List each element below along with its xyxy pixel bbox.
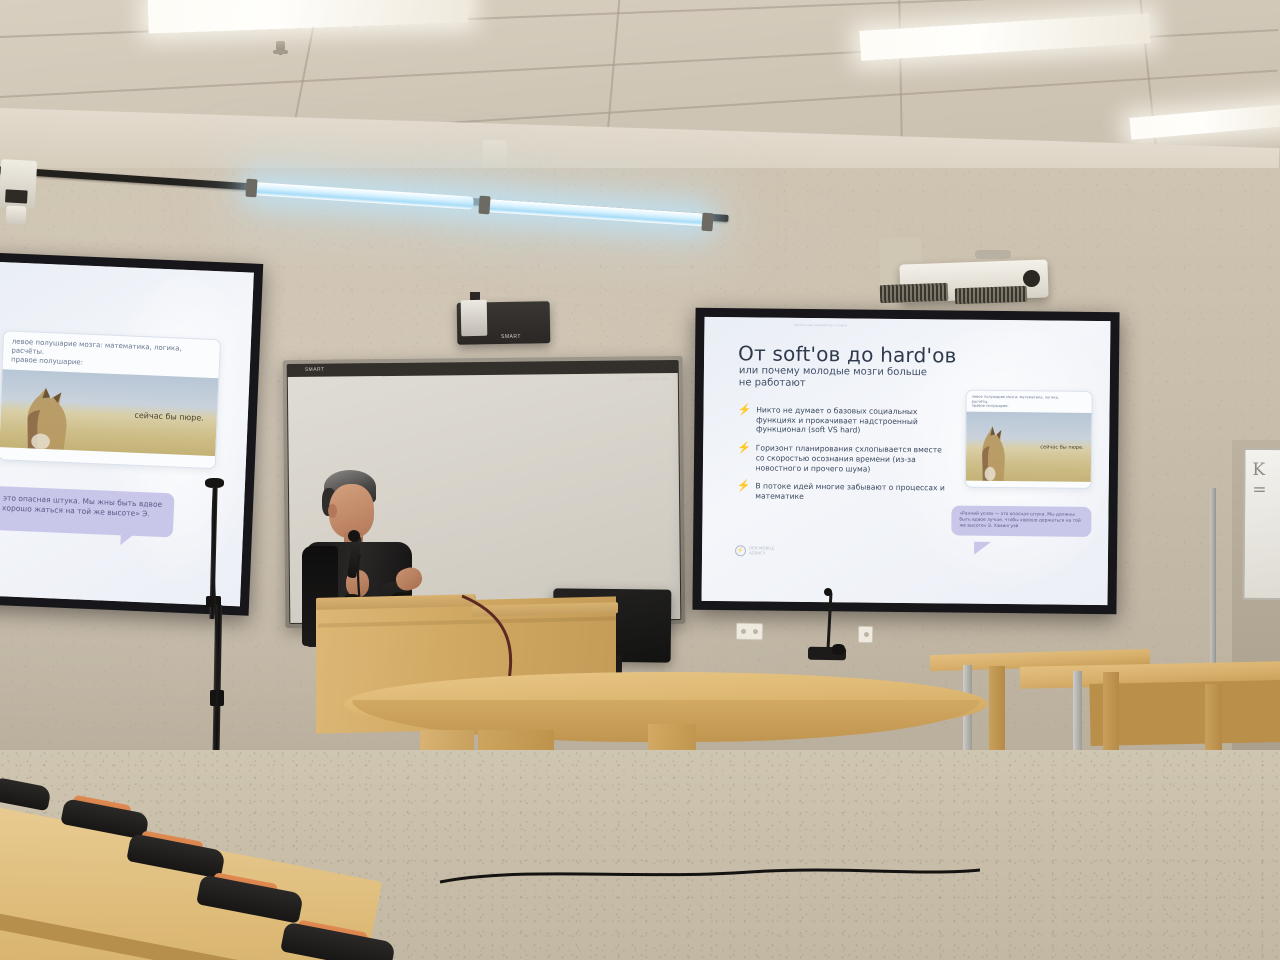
right-quote-tail xyxy=(974,542,991,555)
bullet-item: ⚡ Никто не думает о базовых социальных ф… xyxy=(737,405,947,436)
wall-bracket xyxy=(6,205,27,224)
slide-logo: ⚡ DEN MOBILE AGENCY xyxy=(735,545,774,556)
right-slide: Мобильная разработка сегодня От soft'ов … xyxy=(702,317,1111,605)
bolt-icon: ⚡ xyxy=(737,405,751,434)
right-quote-bubble: «Ранний успех — это опасная штука. Мы до… xyxy=(951,505,1091,536)
bullet-text: В потоке идей многие забывают о процесса… xyxy=(755,482,946,503)
left-quote-tail xyxy=(120,531,137,546)
slide-subtitle-line2: не работают xyxy=(739,377,927,391)
projector-knob-bar xyxy=(975,250,1011,259)
gooseneck-mute-button[interactable] xyxy=(832,644,845,655)
logo-line2: AGENCY xyxy=(749,551,774,556)
left-meme-photo: сейчас бы пюре. xyxy=(0,369,218,456)
sprinkler-head xyxy=(276,41,285,55)
right-quote-text: «Ранний успех — это опасная штука. Мы до… xyxy=(959,512,1080,529)
left-meme-card: левое полушарие мозга: математика, логик… xyxy=(0,330,221,469)
right-projection-screen: Мобильная разработка сегодня От soft'ов … xyxy=(692,308,1119,614)
dog-illustration xyxy=(12,382,92,451)
slide-title: От soft'ов до hard'ов xyxy=(738,341,957,367)
projector-brand-label: SMART xyxy=(501,334,521,340)
right-slide-surface: Мобильная разработка сегодня От soft'ов … xyxy=(702,317,1111,605)
wall-outlet-single[interactable] xyxy=(858,626,873,643)
whiteboard-brand-label: SMART xyxy=(305,367,325,373)
flipchart-written-text: K = xyxy=(1252,460,1280,500)
bullet-text: Горизонт планирования схлопывается вмест… xyxy=(756,444,948,475)
projector-mirror-head xyxy=(461,300,488,336)
tube-end-cap xyxy=(478,196,490,215)
bullet-text: Никто не думает о базовых социальных фун… xyxy=(756,405,948,436)
projector-vent xyxy=(955,286,1028,305)
bolt-icon: ⚡ xyxy=(737,482,751,502)
bolt-icon: ⚡ xyxy=(737,443,751,472)
wall-outlet-double[interactable] xyxy=(736,623,763,640)
left-meme-photo-text: сейчас бы пюре. xyxy=(134,411,204,423)
presenter-ear xyxy=(328,504,337,518)
bullet-item: ⚡ Горизонт планирования схлопывается вме… xyxy=(737,443,947,474)
microphone-capsule xyxy=(348,530,360,542)
lecture-hall-photo: левое полушарие мозга: математика, логик… xyxy=(0,0,1280,960)
tube-end-cap xyxy=(701,213,713,232)
right-meme-card: левое полушарие мозга: математика, логик… xyxy=(965,390,1093,489)
right-meme-caption-line3: правое полушарие: xyxy=(972,404,1087,410)
projector-lens xyxy=(1023,270,1040,287)
slide-header-text: Мобильная разработка сегодня xyxy=(794,323,847,328)
left-quote-text: нний успех — это опасная штука. Мы жны б… xyxy=(0,491,162,522)
gooseneck-microphone-capsule xyxy=(824,588,832,596)
slide-subtitle: или почему молодые мозги больше не работ… xyxy=(739,365,927,391)
tube-end-cap xyxy=(245,179,257,198)
flipchart-whiteboard: K = xyxy=(1242,448,1280,600)
slide-bullet-list: ⚡ Никто не думает о базовых социальных ф… xyxy=(736,405,947,512)
left-quote-bubble: нний успех — это опасная штука. Мы жны б… xyxy=(0,484,175,538)
floor-cable xyxy=(280,860,980,930)
whiteboard-model-label: SMART Board 480 xyxy=(628,376,669,381)
wall-speaker xyxy=(0,159,37,209)
bullet-item: ⚡ В потоке идей многие забывают о процес… xyxy=(737,482,947,504)
logo-mark-icon: ⚡ xyxy=(735,545,746,556)
dog-illustration xyxy=(973,423,1019,481)
right-meme-photo: сейчас бы пюре. xyxy=(966,412,1092,482)
projector-vent xyxy=(880,283,949,303)
flipchart-leg xyxy=(1210,488,1216,686)
right-meme-photo-text: сейчас бы пюре. xyxy=(1040,444,1083,450)
